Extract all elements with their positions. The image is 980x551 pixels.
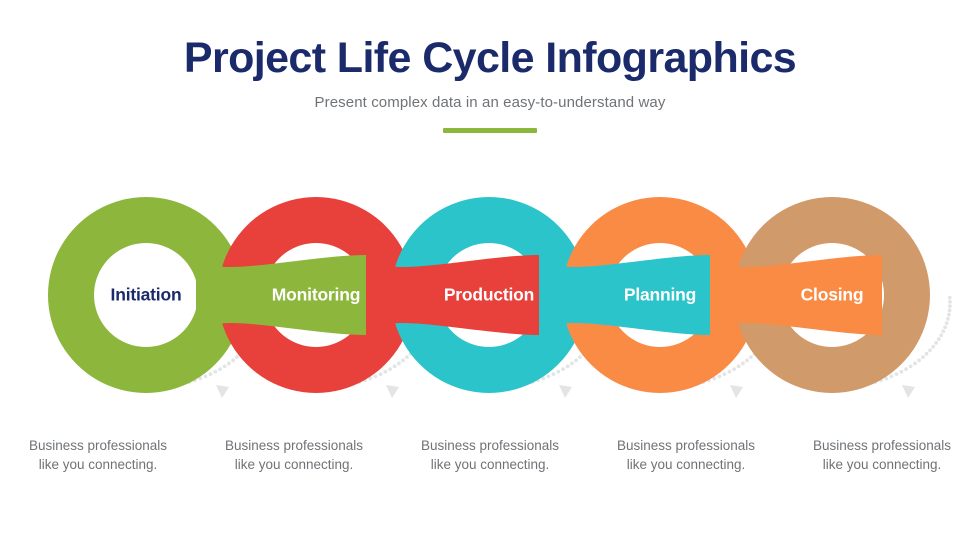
- caption-text: Business professionals like you connecti…: [594, 436, 778, 474]
- accent-divider: [443, 128, 537, 133]
- ring-chain-diagram: InitiationMonitoringProductionPlanningCl…: [0, 175, 980, 425]
- captions-row: Business professionals like you connecti…: [0, 436, 980, 474]
- caption-cell: Business professionals like you connecti…: [0, 436, 196, 474]
- caption-text: Business professionals like you connecti…: [6, 436, 190, 474]
- caption-cell: Business professionals like you connecti…: [392, 436, 588, 474]
- ring-label-closing: Closing: [801, 285, 864, 305]
- ring-chain-svg: InitiationMonitoringProductionPlanningCl…: [0, 175, 980, 425]
- caption-cell: Business professionals like you connecti…: [196, 436, 392, 474]
- ring-label-monitoring: Monitoring: [272, 285, 360, 305]
- slide-canvas: Project Life Cycle Infographics Present …: [0, 0, 980, 551]
- caption-text: Business professionals like you connecti…: [202, 436, 386, 474]
- ring-label-production: Production: [444, 285, 534, 305]
- caption-cell: Business professionals like you connecti…: [588, 436, 784, 474]
- caption-cell: Business professionals like you connecti…: [784, 436, 980, 474]
- ring-label-planning: Planning: [624, 285, 696, 305]
- caption-text: Business professionals like you connecti…: [790, 436, 974, 474]
- page-title: Project Life Cycle Infographics: [0, 36, 980, 81]
- slide-header: Project Life Cycle Infographics Present …: [0, 36, 980, 133]
- ring-label-initiation: Initiation: [111, 285, 182, 305]
- page-subtitle: Present complex data in an easy-to-under…: [0, 94, 980, 111]
- caption-text: Business professionals like you connecti…: [398, 436, 582, 474]
